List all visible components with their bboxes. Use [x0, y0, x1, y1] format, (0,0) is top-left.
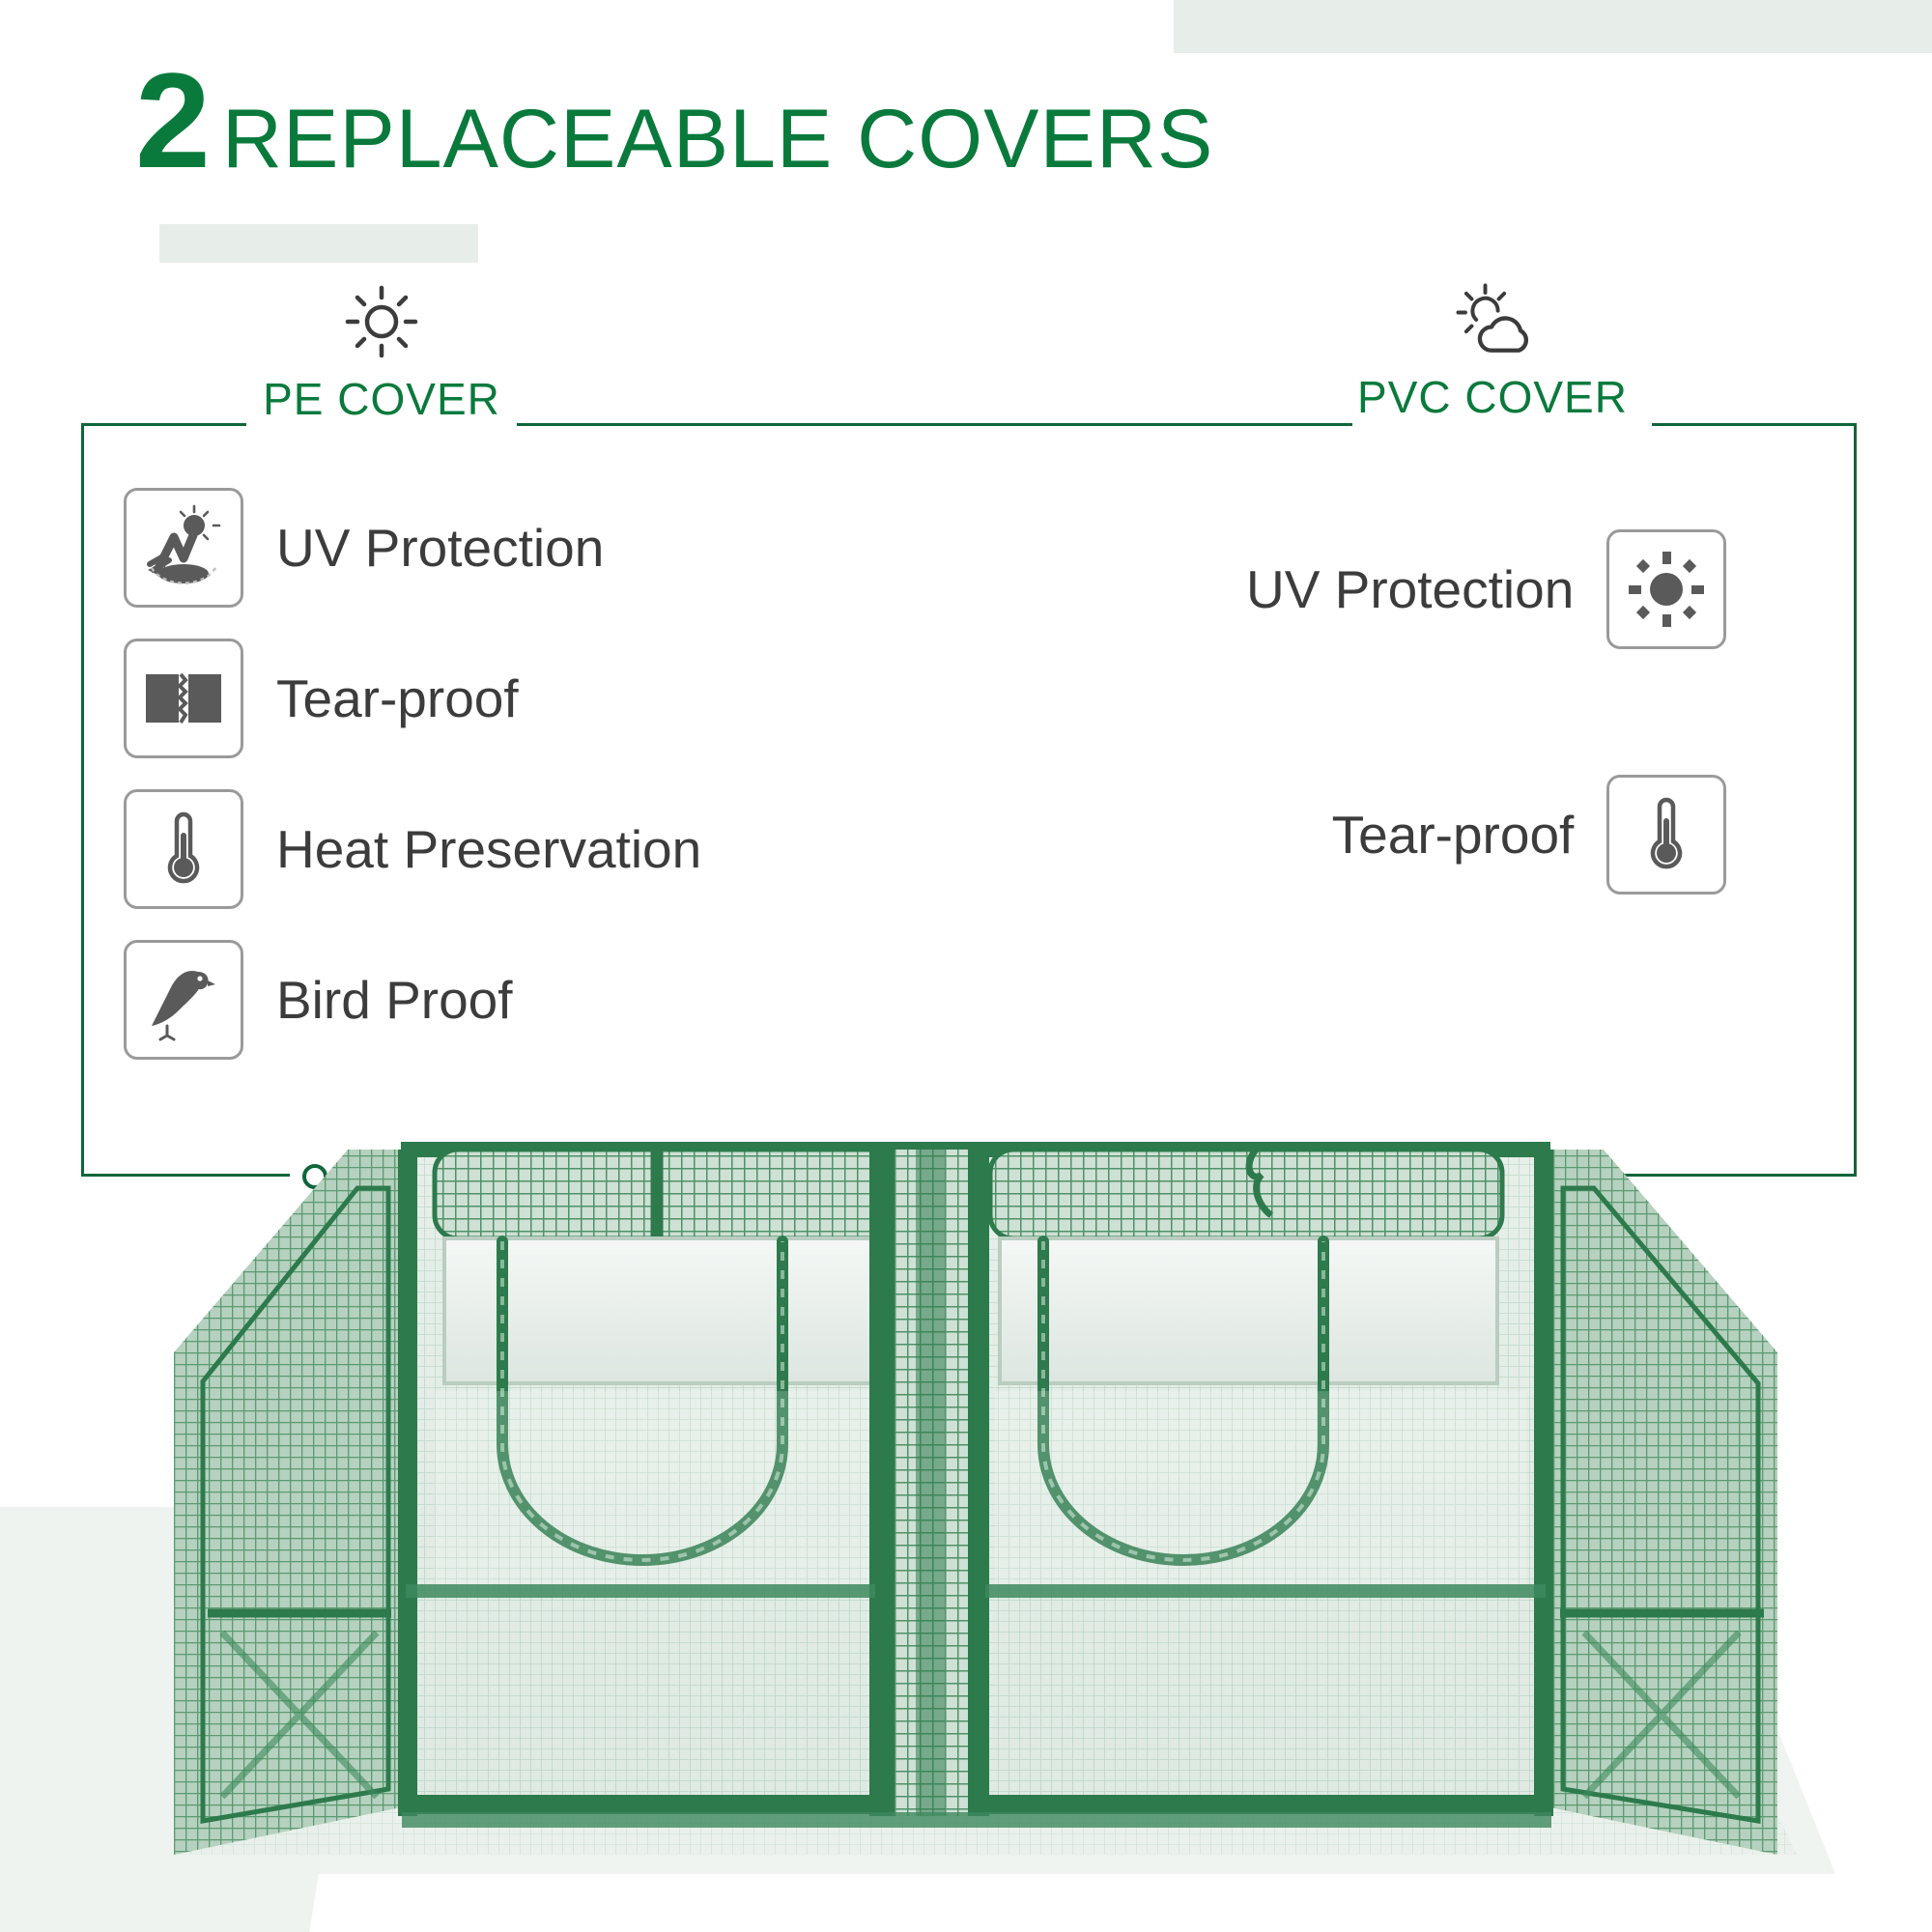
sun-cloud-icon — [1451, 278, 1534, 361]
sun-icon — [340, 280, 423, 363]
feature-label: Heat Preservation — [276, 818, 701, 880]
feature-list-pvc: UV Protection Tear-proof — [1246, 529, 1726, 1020]
page-title: 2 REPLACEABLE COVERS — [135, 53, 1213, 188]
feature-item: Heat Preservation — [124, 789, 701, 909]
uv-shield-icon — [124, 488, 243, 608]
feature-label: Tear-proof — [1332, 804, 1575, 866]
headline-number: 2 — [135, 53, 209, 188]
feature-label: UV Protection — [1246, 558, 1574, 620]
cover-header-pvc: PVC COVER — [1323, 278, 1662, 423]
product-image-greenhouse — [116, 1005, 1835, 1932]
feature-item: UV Protection — [124, 488, 604, 608]
cover-label-pvc: PVC COVER — [1344, 371, 1641, 423]
background-block-title-accent — [159, 224, 478, 263]
feature-item: Tear-proof — [124, 639, 519, 758]
feature-item: UV Protection — [1246, 529, 1726, 649]
cover-header-pe: PE COVER — [217, 280, 546, 425]
thermometer-icon — [124, 789, 243, 909]
infographic-canvas: 2 REPLACEABLE COVERS — [0, 0, 1932, 1932]
headline-text: REPLACEABLE COVERS — [222, 98, 1213, 181]
feature-label: UV Protection — [276, 517, 604, 579]
feature-label: Tear-proof — [276, 668, 519, 729]
thermometer-icon — [1606, 775, 1726, 895]
feature-item: Tear-proof — [1332, 775, 1727, 895]
background-block-top-right — [1174, 0, 1932, 53]
feature-list-pe: UV Protection Tear-proof Heat Preser — [124, 488, 701, 1091]
sun-filled-icon — [1606, 529, 1726, 649]
cover-label-pe: PE COVER — [249, 373, 514, 425]
torn-fabric-icon — [124, 639, 243, 758]
